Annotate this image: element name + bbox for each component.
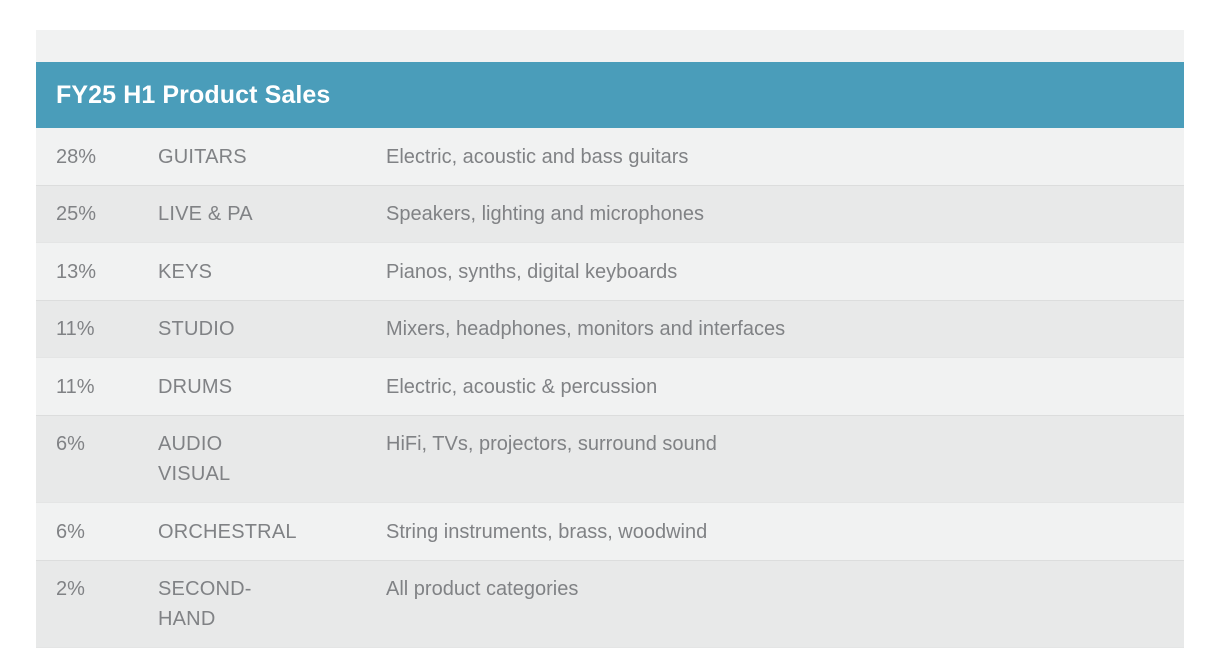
row-category: GUITARS [158,142,386,172]
row-percent: 2% [36,574,158,604]
row-description: String instruments, brass, woodwind [386,517,1184,547]
row-description: All product categories [386,574,1184,604]
table-header: FY25 H1 Product Sales [36,62,1184,128]
row-category: LIVE & PA [158,199,386,229]
row-percent: 11% [36,372,158,402]
table-row[interactable]: 2% SECOND- HAND All product categories [36,560,1184,648]
row-description: Electric, acoustic and bass guitars [386,142,1184,172]
row-category: KEYS [158,257,386,287]
row-percent: 25% [36,199,158,229]
row-category: ORCHESTRAL [158,517,386,547]
row-description: Electric, acoustic & percussion [386,372,1184,402]
table-row[interactable]: 28% GUITARS Electric, acoustic and bass … [36,128,1184,185]
table-row[interactable]: 13% KEYS Pianos, synths, digital keyboar… [36,243,1184,300]
row-percent: 13% [36,257,158,287]
table-row[interactable]: 25% LIVE & PA Speakers, lighting and mic… [36,185,1184,243]
table-row[interactable]: 6% ORCHESTRAL String instruments, brass,… [36,503,1184,560]
row-category: STUDIO [158,314,386,344]
row-category: SECOND- HAND [158,574,386,634]
table-row[interactable]: 11% STUDIO Mixers, headphones, monitors … [36,300,1184,358]
row-description: Pianos, synths, digital keyboards [386,257,1184,287]
row-description: HiFi, TVs, projectors, surround sound [386,429,1184,459]
table-row[interactable]: 6% AUDIO VISUAL HiFi, TVs, projectors, s… [36,415,1184,503]
row-description: Speakers, lighting and microphones [386,199,1184,229]
row-percent: 6% [36,517,158,547]
row-description: Mixers, headphones, monitors and interfa… [386,314,1184,344]
page-title: FY25 H1 Product Sales [56,83,330,108]
row-percent: 28% [36,142,158,172]
row-percent: 6% [36,429,158,459]
row-category: AUDIO VISUAL [158,429,386,489]
row-percent: 11% [36,314,158,344]
table-body: 28% GUITARS Electric, acoustic and bass … [36,128,1184,648]
table-row[interactable]: 11% DRUMS Electric, acoustic & percussio… [36,358,1184,415]
page-root: FY25 H1 Product Sales 28% GUITARS Electr… [0,0,1220,642]
row-category: DRUMS [158,372,386,402]
product-sales-table: FY25 H1 Product Sales 28% GUITARS Electr… [36,62,1184,648]
